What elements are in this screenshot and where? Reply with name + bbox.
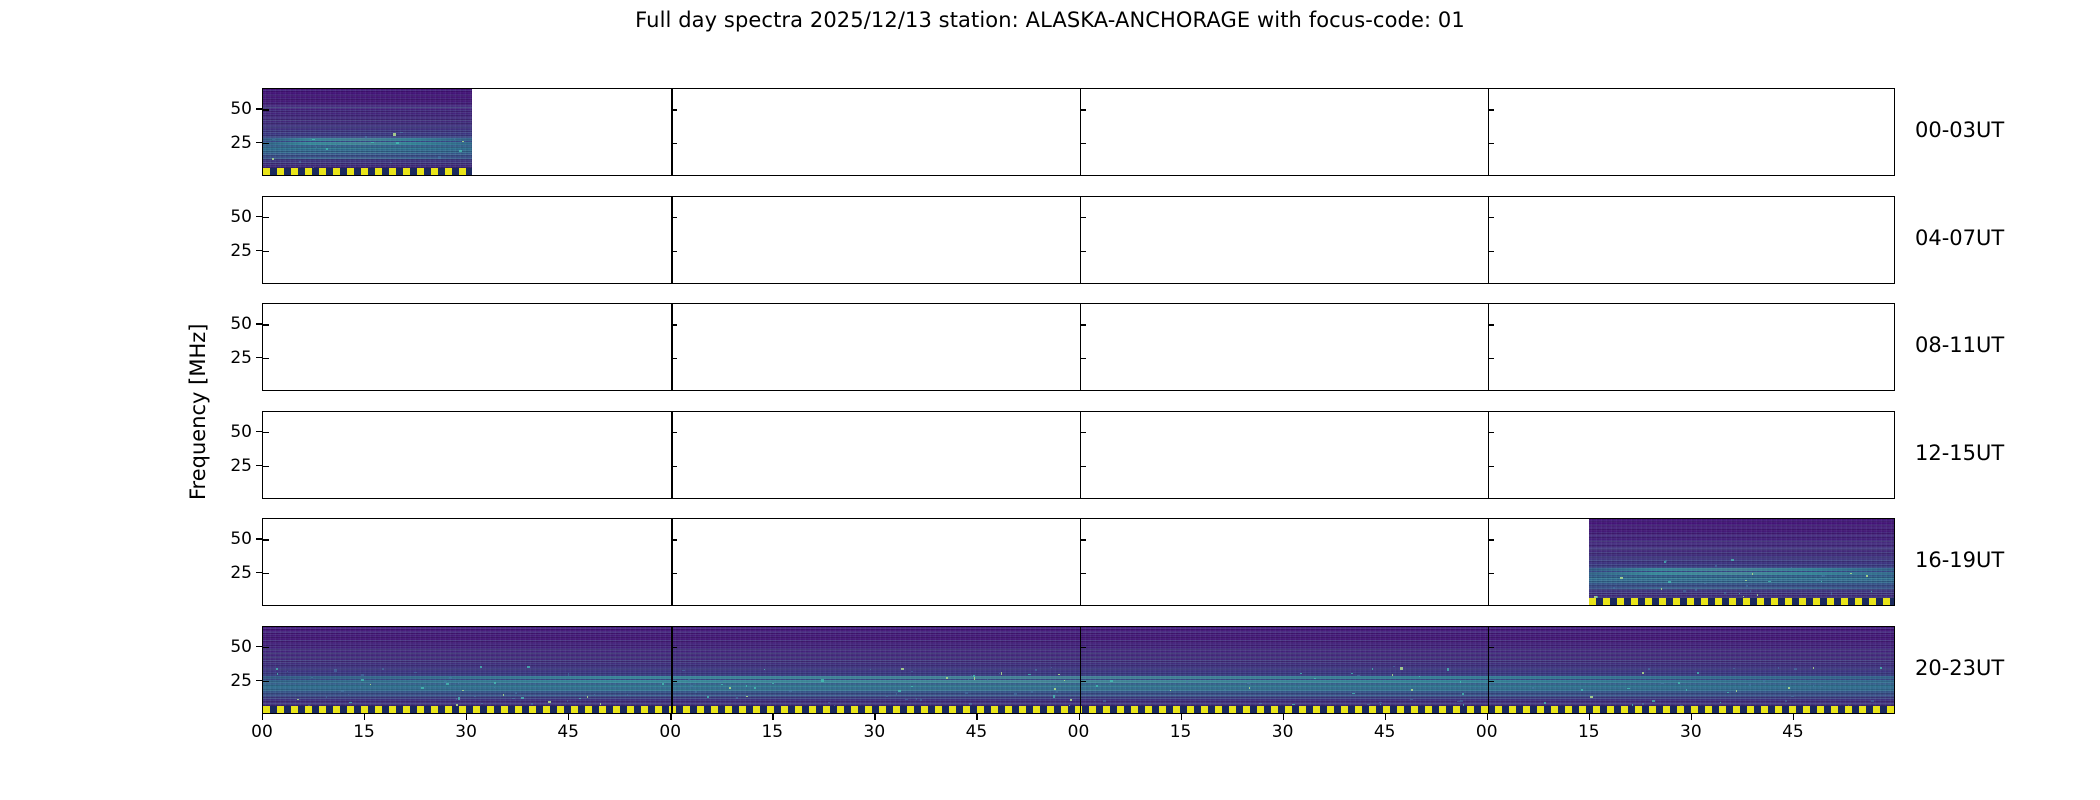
row-label-20-23ut: 20-23UT xyxy=(1915,656,2004,680)
row-label-00-03ut: 00-03UT xyxy=(1915,118,2004,142)
spectrogram-figure: Full day spectra 2025/12/13 station: ALA… xyxy=(0,0,2100,800)
spectrogram-striation xyxy=(1589,549,1895,550)
spectrogram-speckle xyxy=(355,140,357,141)
spectrogram-striation xyxy=(263,127,472,128)
y-tick-mark-outer xyxy=(256,323,262,324)
x-tick-mark xyxy=(568,714,569,720)
x-tick-label: 30 xyxy=(1263,722,1303,742)
y-tick-mark xyxy=(1488,358,1494,359)
x-tick-mark xyxy=(772,714,773,720)
spectrogram-speckle xyxy=(1822,575,1823,577)
spectrogram-striation xyxy=(1589,541,1895,542)
x-tick-mark xyxy=(1793,714,1794,720)
hour-separator xyxy=(1080,197,1081,283)
y-tick-mark xyxy=(263,217,269,218)
y-tick-mark xyxy=(263,466,269,467)
x-tick-label: 00 xyxy=(650,722,690,742)
spectrogram-striation xyxy=(263,137,472,138)
hour-separator xyxy=(1488,519,1489,605)
spectrogram-speckle xyxy=(968,679,969,680)
hour-separator xyxy=(1080,412,1081,498)
spectrogram-striation xyxy=(263,120,472,121)
y-tick-mark xyxy=(1080,647,1086,648)
spectrogram-striation xyxy=(263,132,472,133)
x-tick-label: 45 xyxy=(1773,722,1813,742)
spectrogram-speckle xyxy=(361,679,364,681)
spectrogram-speckle xyxy=(987,679,988,681)
spectrogram-row-20-23ut[interactable] xyxy=(262,626,1895,714)
spectrogram-striation xyxy=(263,112,472,113)
x-tick-label: 45 xyxy=(548,722,588,742)
spectrogram-striation xyxy=(263,158,472,159)
spectrogram-data-block xyxy=(1589,519,1895,605)
x-tick-label: 00 xyxy=(242,722,282,742)
x-tick-label: 15 xyxy=(344,722,384,742)
spectrogram-speckle xyxy=(999,673,1001,674)
y-tick-mark xyxy=(1488,573,1494,574)
spectrogram-striation xyxy=(263,164,472,165)
x-tick-label: 15 xyxy=(752,722,792,742)
x-tick-mark xyxy=(262,714,263,720)
y-tick-label: 25 xyxy=(206,348,252,368)
y-tick-mark-outer xyxy=(256,646,262,647)
y-tick-mark xyxy=(1488,647,1494,648)
x-tick-label: 45 xyxy=(956,722,996,742)
hour-separator xyxy=(1488,304,1489,390)
spectrogram-striation xyxy=(263,145,472,146)
spectrogram-striation xyxy=(1589,564,1895,565)
hour-separator xyxy=(1080,519,1081,605)
spectrogram-striation xyxy=(263,150,472,151)
y-tick-mark xyxy=(1080,466,1086,467)
spectrogram-speckle xyxy=(1351,673,1353,675)
y-tick-mark xyxy=(263,681,269,682)
spectrogram-speckle xyxy=(1866,575,1869,577)
x-tick-mark xyxy=(1283,714,1284,720)
hour-separator xyxy=(671,197,672,283)
spectrogram-speckle xyxy=(454,138,455,140)
y-axis-label: Frequency [MHz] xyxy=(186,472,210,500)
y-tick-mark xyxy=(671,573,677,574)
y-tick-mark xyxy=(263,358,269,359)
spectrogram-striation xyxy=(1589,588,1895,589)
y-tick-mark xyxy=(1080,358,1086,359)
y-tick-mark xyxy=(263,573,269,574)
y-tick-mark xyxy=(671,251,677,252)
y-tick-mark xyxy=(671,432,677,433)
y-tick-mark-outer xyxy=(256,357,262,358)
x-tick-label: 30 xyxy=(446,722,486,742)
y-tick-label: 50 xyxy=(206,99,252,119)
spectrogram-striation xyxy=(1589,580,1895,581)
y-tick-mark xyxy=(263,539,269,540)
spectrogram-row-00-03ut[interactable] xyxy=(262,88,1895,176)
spectrogram-speckle xyxy=(1103,700,1106,702)
spectrogram-speckle xyxy=(287,671,288,673)
y-tick-mark xyxy=(671,466,677,467)
x-tick-label: 00 xyxy=(1467,722,1507,742)
y-tick-mark-outer xyxy=(256,431,262,432)
row-label-12-15ut: 12-15UT xyxy=(1915,441,2004,465)
x-tick-mark xyxy=(1589,714,1590,720)
y-tick-mark-outer xyxy=(256,680,262,681)
hour-separator xyxy=(671,304,672,390)
spectrogram-speckle xyxy=(371,142,374,144)
y-tick-label: 50 xyxy=(206,422,252,442)
y-tick-mark xyxy=(1080,143,1086,144)
spectrogram-speckle xyxy=(1812,680,1814,681)
x-tick-mark xyxy=(1385,714,1386,720)
spectrogram-striation xyxy=(1589,543,1895,544)
spectrogram-striation xyxy=(1589,552,1895,553)
spectrogram-striation xyxy=(263,130,472,131)
y-tick-mark xyxy=(263,143,269,144)
x-tick-mark xyxy=(364,714,365,720)
hour-separator xyxy=(1488,412,1489,498)
spectrogram-speckle xyxy=(1791,696,1794,698)
spectrogram-striation xyxy=(263,110,472,111)
spectrogram-striation xyxy=(1589,594,1895,595)
hour-separator xyxy=(1488,89,1489,175)
spectrogram-speckle xyxy=(746,696,748,698)
y-tick-mark xyxy=(263,432,269,433)
spectrogram-striation xyxy=(1589,567,1895,568)
spectrogram-striation xyxy=(263,107,472,108)
spectrogram-speckle xyxy=(1094,700,1095,702)
page-title: Full day spectra 2025/12/13 station: ALA… xyxy=(0,8,2100,32)
spectrogram-data-block xyxy=(263,89,472,175)
spectrogram-row-08-11ut[interactable] xyxy=(262,303,1895,391)
spectrogram-speckle xyxy=(1031,691,1033,693)
hour-separator xyxy=(1080,89,1081,175)
emission-band xyxy=(263,138,472,141)
spectrogram-speckle xyxy=(1627,688,1629,689)
y-tick-mark xyxy=(671,539,677,540)
spectrogram-striation xyxy=(1589,560,1895,561)
emission-band xyxy=(1589,568,1895,571)
hour-separator xyxy=(1488,627,1489,713)
y-tick-mark xyxy=(671,324,677,325)
y-tick-label: 25 xyxy=(206,133,252,153)
y-tick-mark xyxy=(263,647,269,648)
spectrogram-speckle xyxy=(965,692,967,694)
y-tick-mark xyxy=(1080,539,1086,540)
spectrogram-speckle xyxy=(1871,700,1874,702)
row-label-04-07ut: 04-07UT xyxy=(1915,226,2004,250)
y-tick-mark xyxy=(263,251,269,252)
time-marker-strip xyxy=(263,168,472,175)
spectrogram-striation xyxy=(263,125,472,126)
y-tick-mark xyxy=(263,109,269,110)
hour-separator xyxy=(1488,197,1489,283)
y-tick-mark-outer xyxy=(256,465,262,466)
y-tick-label: 50 xyxy=(206,314,252,334)
hour-separator xyxy=(671,89,672,175)
plot-area xyxy=(262,88,1895,714)
y-tick-mark-outer xyxy=(256,108,262,109)
spectrogram-speckle xyxy=(1028,674,1031,675)
spectrogram-row-04-07ut[interactable] xyxy=(262,196,1895,284)
y-tick-mark xyxy=(671,647,677,648)
spectrogram-striation xyxy=(1589,527,1895,528)
x-tick-label: 30 xyxy=(854,722,894,742)
spectrogram-speckle xyxy=(911,671,913,672)
x-tick-mark xyxy=(1079,714,1080,720)
emission-band xyxy=(263,148,472,150)
y-tick-mark xyxy=(1080,324,1086,325)
spectrogram-striation xyxy=(1589,535,1895,536)
y-tick-mark xyxy=(671,143,677,144)
y-tick-mark xyxy=(1080,109,1086,110)
spectrogram-striation xyxy=(263,154,472,155)
y-tick-mark xyxy=(671,358,677,359)
y-tick-mark xyxy=(1080,217,1086,218)
spectrogram-speckle xyxy=(1300,673,1302,675)
spectrogram-speckle xyxy=(1642,672,1643,674)
y-tick-mark-outer xyxy=(256,538,262,539)
spectrogram-speckle xyxy=(1727,692,1729,693)
x-tick-mark xyxy=(1487,714,1488,720)
spectrogram-speckle xyxy=(1704,583,1706,584)
spectrogram-speckle xyxy=(396,142,399,144)
y-tick-label: 25 xyxy=(206,456,252,476)
y-tick-label: 25 xyxy=(206,671,252,691)
x-tick-mark xyxy=(976,714,977,720)
y-tick-mark-outer xyxy=(256,572,262,573)
y-tick-mark xyxy=(1080,251,1086,252)
spectrogram-speckle xyxy=(361,674,364,676)
x-tick-label: 30 xyxy=(1671,722,1711,742)
x-tick-label: 00 xyxy=(1059,722,1099,742)
spectrogram-speckle xyxy=(462,141,464,142)
hour-separator xyxy=(1080,627,1081,713)
spectrogram-speckle xyxy=(474,696,476,697)
spectrogram-striation xyxy=(1589,521,1895,522)
spectrogram-speckle xyxy=(1807,684,1808,685)
spectrogram-speckle xyxy=(1001,672,1003,674)
y-tick-label: 25 xyxy=(206,563,252,583)
spectrogram-striation xyxy=(263,90,472,91)
spectrogram-speckle xyxy=(272,139,275,140)
y-tick-mark-outer xyxy=(256,216,262,217)
spectrogram-speckle xyxy=(1460,700,1463,702)
spectrogram-speckle xyxy=(1746,585,1748,587)
hour-separator xyxy=(671,412,672,498)
x-tick-mark xyxy=(1181,714,1182,720)
y-tick-mark xyxy=(1488,466,1494,467)
y-tick-mark-outer xyxy=(256,250,262,251)
spectrogram-speckle xyxy=(568,673,569,676)
x-tick-mark xyxy=(466,714,467,720)
spectrogram-striation xyxy=(263,117,472,118)
y-tick-mark-outer xyxy=(256,142,262,143)
spectrogram-speckle xyxy=(920,699,923,701)
spectrogram-striation xyxy=(1589,573,1895,574)
y-tick-mark xyxy=(1080,432,1086,433)
y-tick-label: 50 xyxy=(206,207,252,227)
spectrogram-striation xyxy=(1589,582,1895,583)
spectrogram-speckle xyxy=(1697,672,1699,674)
y-tick-mark xyxy=(1488,539,1494,540)
spectrogram-striation xyxy=(263,147,472,148)
y-tick-mark xyxy=(1488,217,1494,218)
y-tick-mark xyxy=(1488,681,1494,682)
x-tick-label: 45 xyxy=(1365,722,1405,742)
y-tick-mark xyxy=(671,681,677,682)
spectrogram-speckle xyxy=(1392,674,1393,676)
row-label-08-11ut: 08-11UT xyxy=(1915,333,2004,357)
y-tick-label: 25 xyxy=(206,241,252,261)
y-tick-mark xyxy=(671,217,677,218)
y-tick-label: 50 xyxy=(206,529,252,549)
spectrogram-speckle xyxy=(1357,675,1360,676)
hour-separator xyxy=(671,627,672,713)
spectrogram-speckle xyxy=(886,696,888,697)
x-tick-mark xyxy=(670,714,671,720)
y-tick-mark xyxy=(1488,432,1494,433)
y-tick-mark xyxy=(1080,681,1086,682)
y-tick-mark xyxy=(1080,573,1086,574)
spectrogram-speckle xyxy=(312,139,315,140)
y-tick-label: 50 xyxy=(206,637,252,657)
spectrogram-speckle xyxy=(1652,700,1655,702)
x-axis: 00153045001530450015304500153045 xyxy=(262,714,1895,754)
spectrogram-speckle xyxy=(688,679,690,681)
spectrogram-speckle xyxy=(695,691,698,693)
x-tick-label: 15 xyxy=(1161,722,1201,742)
hour-separator xyxy=(1080,304,1081,390)
spectrogram-speckle xyxy=(414,672,417,673)
x-tick-mark xyxy=(1691,714,1692,720)
spectrogram-striation xyxy=(1589,558,1895,559)
spectrogram-striation xyxy=(1589,525,1895,526)
y-tick-mark xyxy=(1488,324,1494,325)
y-tick-mark xyxy=(671,109,677,110)
time-marker-strip xyxy=(1589,598,1895,605)
spectrogram-row-16-19ut[interactable] xyxy=(262,518,1895,606)
spectrogram-speckle xyxy=(277,673,279,675)
row-label-16-19ut: 16-19UT xyxy=(1915,548,2004,572)
spectrogram-speckle xyxy=(1791,567,1792,569)
spectrogram-striation xyxy=(263,95,472,96)
x-tick-label: 15 xyxy=(1569,722,1609,742)
spectrogram-row-12-15ut[interactable] xyxy=(262,411,1895,499)
y-tick-mark xyxy=(263,324,269,325)
hour-separator xyxy=(671,519,672,605)
spectrogram-speckle xyxy=(1058,674,1060,676)
spectrogram-speckle xyxy=(1064,680,1065,681)
spectrogram-speckle xyxy=(1056,691,1058,693)
y-tick-mark xyxy=(1488,143,1494,144)
x-tick-mark xyxy=(874,714,875,720)
y-tick-mark xyxy=(1488,251,1494,252)
spectrogram-speckle xyxy=(370,684,371,685)
y-tick-mark xyxy=(1488,109,1494,110)
